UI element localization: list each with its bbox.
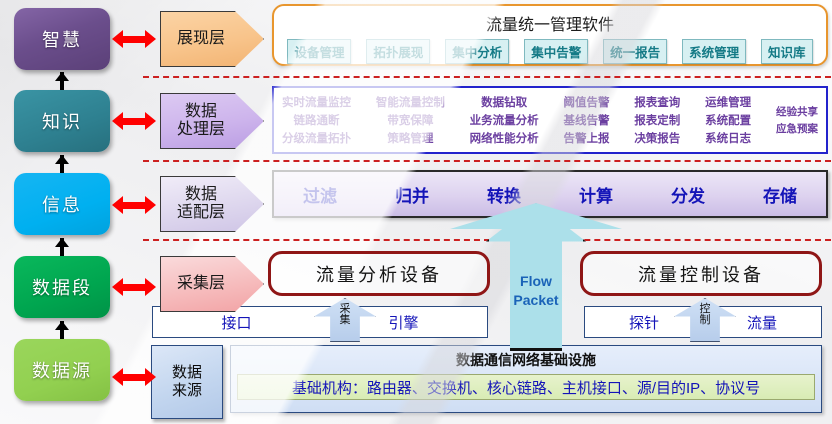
control-arrow-char2: 制 bbox=[674, 315, 736, 326]
processing-column: 经验共享 应急预案 bbox=[776, 104, 818, 136]
flow-packet-line1: Flow bbox=[520, 272, 552, 291]
nav-button-system-management[interactable]: 系统管理 bbox=[682, 39, 746, 64]
presentation-button-row: 设备管理 拓扑展现 集中分析 集中告警 统一报告 系统管理 知识库 bbox=[274, 35, 826, 64]
device-box-label: 流量控制设备 bbox=[638, 261, 764, 287]
flow-packet-line2: Packet bbox=[513, 291, 558, 310]
flow-packet-label: Flow Packet bbox=[486, 268, 586, 314]
device-box-label: 流量分析设备 bbox=[316, 261, 442, 287]
layer-chevron-label: 展现层 bbox=[177, 30, 225, 48]
processing-item[interactable]: 链路通断 bbox=[282, 112, 351, 128]
processing-column: 数据钻取 业务流量分析 网络性能分析 bbox=[470, 94, 539, 146]
processing-item[interactable]: 阈值告警 bbox=[563, 94, 609, 110]
processing-item[interactable]: 应急预案 bbox=[776, 121, 818, 136]
infrastructure-detail: 基础机构：路由器、交换机、核心链路、主机接口、源/目的IP、协议号 bbox=[237, 374, 815, 400]
processing-item[interactable]: 实时流量监控 bbox=[282, 94, 351, 110]
up-arrow-icon bbox=[55, 155, 69, 173]
separator-adaptation-collection bbox=[143, 239, 831, 241]
layer-chevron-presentation[interactable]: 展现层 bbox=[160, 11, 264, 67]
maturity-level-label: 数据段 bbox=[32, 274, 92, 300]
device-box-traffic-control[interactable]: 流量控制设备 bbox=[580, 251, 822, 296]
processing-column: 智能流量控制 带宽保障 策略管理 bbox=[376, 94, 445, 146]
adaptation-item-store[interactable]: 存储 bbox=[763, 182, 797, 207]
infrastructure-panel: 数据通信网络基础设施 基础机构：路由器、交换机、核心链路、主机接口、源/目的IP… bbox=[230, 345, 822, 413]
bidirectional-arrow-icon bbox=[112, 278, 156, 296]
processing-item[interactable]: 数据钻取 bbox=[470, 94, 539, 110]
processing-panel: 实时流量监控 链路通断 分级流量拓扑 智能流量控制 带宽保障 策略管理 数据钻取… bbox=[272, 86, 828, 154]
adaptation-item-distribute[interactable]: 分发 bbox=[671, 182, 705, 207]
layer-chevron-label: 采集层 bbox=[177, 275, 225, 293]
collect-arrow-char2: 集 bbox=[314, 315, 376, 326]
maturity-level-wisdom: 智慧 bbox=[14, 8, 110, 70]
adaptation-item-merge[interactable]: 归并 bbox=[395, 182, 429, 207]
processing-column: 阈值告警 基线告警 告警上报 bbox=[563, 94, 609, 146]
bidirectional-arrow-icon bbox=[112, 196, 156, 214]
processing-item[interactable]: 经验共享 bbox=[776, 104, 818, 119]
processing-item[interactable]: 决策报告 bbox=[634, 130, 680, 146]
layer-chevron-processing[interactable]: 数据 处理层 bbox=[160, 93, 264, 149]
processing-item[interactable]: 基线告警 bbox=[563, 112, 609, 128]
maturity-level-label: 智慧 bbox=[42, 26, 82, 52]
layer-box-label-line1: 数据 bbox=[172, 364, 202, 382]
software-title: 流量统一管理软件 bbox=[274, 6, 826, 35]
processing-item[interactable]: 运维管理 bbox=[705, 94, 751, 110]
adaptation-item-compute[interactable]: 计算 bbox=[579, 182, 613, 207]
maturity-level-data-segment: 数据段 bbox=[14, 256, 110, 318]
maturity-level-knowledge: 知识 bbox=[14, 90, 110, 152]
layer-chevron-collection[interactable]: 采集层 bbox=[160, 256, 264, 312]
separator-processing-adaptation bbox=[143, 160, 831, 162]
processing-item[interactable]: 告警上报 bbox=[563, 130, 609, 146]
presentation-panel: 流量统一管理软件 设备管理 拓扑展现 集中分析 集中告警 统一报告 系统管理 知… bbox=[272, 4, 828, 66]
processing-item[interactable]: 带宽保障 bbox=[376, 112, 445, 128]
layer-chevron-label-line2: 适配层 bbox=[177, 204, 225, 222]
nav-button-unified-report[interactable]: 统一报告 bbox=[603, 39, 667, 64]
maturity-level-label: 信息 bbox=[42, 191, 82, 217]
processing-item[interactable]: 网络性能分析 bbox=[470, 130, 539, 146]
processing-column: 实时流量监控 链路通断 分级流量拓扑 bbox=[282, 94, 351, 146]
nav-button-centralized-analysis[interactable]: 集中分析 bbox=[445, 39, 509, 64]
up-arrow-icon bbox=[55, 238, 69, 256]
nav-button-centralized-alarm[interactable]: 集中告警 bbox=[524, 39, 588, 64]
processing-item[interactable]: 业务流量分析 bbox=[470, 112, 539, 128]
processing-item[interactable]: 报表查询 bbox=[634, 94, 680, 110]
bidirectional-arrow-icon bbox=[112, 368, 156, 386]
maturity-level-label: 数据源 bbox=[32, 357, 92, 383]
processing-item[interactable]: 分级流量拓扑 bbox=[282, 130, 351, 146]
nav-button-knowledge-base[interactable]: 知识库 bbox=[761, 39, 813, 64]
bidirectional-arrow-icon bbox=[112, 30, 156, 48]
control-arrow-icon: 控 制 bbox=[674, 298, 736, 342]
processing-item[interactable]: 策略管理 bbox=[376, 130, 445, 146]
processing-item[interactable]: 报表定制 bbox=[634, 112, 680, 128]
processing-column: 运维管理 系统配置 系统日志 bbox=[705, 94, 751, 146]
processing-item[interactable]: 系统配置 bbox=[705, 112, 751, 128]
layer-chevron-label-line1: 数据 bbox=[185, 186, 217, 204]
processing-column: 报表查询 报表定制 决策报告 bbox=[634, 94, 680, 146]
maturity-level-information: 信息 bbox=[14, 173, 110, 235]
up-arrow-icon bbox=[55, 72, 69, 90]
layer-box-label-line2: 来源 bbox=[172, 382, 202, 400]
processing-item[interactable]: 系统日志 bbox=[705, 130, 751, 146]
maturity-level-data-source: 数据源 bbox=[14, 339, 110, 401]
up-arrow-icon bbox=[55, 321, 69, 339]
diagram-canvas: 智慧 知识 信息 数据段 数据源 展现层 数据 bbox=[0, 0, 832, 424]
layer-chevron-adaptation[interactable]: 数据 适配层 bbox=[160, 176, 264, 232]
layer-chevron-label-line1: 数据 bbox=[185, 103, 217, 121]
processing-item[interactable]: 智能流量控制 bbox=[376, 94, 445, 110]
nav-button-device-management[interactable]: 设备管理 bbox=[287, 39, 351, 64]
maturity-level-label: 知识 bbox=[42, 108, 82, 134]
collect-arrow-icon: 采 集 bbox=[314, 298, 376, 342]
layer-box-data-source[interactable]: 数据 来源 bbox=[151, 345, 223, 419]
adaptation-item-filter[interactable]: 过滤 bbox=[303, 182, 337, 207]
nav-button-topology[interactable]: 拓扑展现 bbox=[366, 39, 430, 64]
separator-presentation-processing bbox=[143, 76, 831, 78]
device-box-traffic-analysis[interactable]: 流量分析设备 bbox=[268, 251, 490, 296]
adaptation-item-transform[interactable]: 转换 bbox=[487, 182, 521, 207]
strip-item-interface[interactable]: 接口 bbox=[153, 312, 320, 333]
bidirectional-arrow-icon bbox=[112, 112, 156, 130]
layer-chevron-label-line2: 处理层 bbox=[177, 121, 225, 139]
